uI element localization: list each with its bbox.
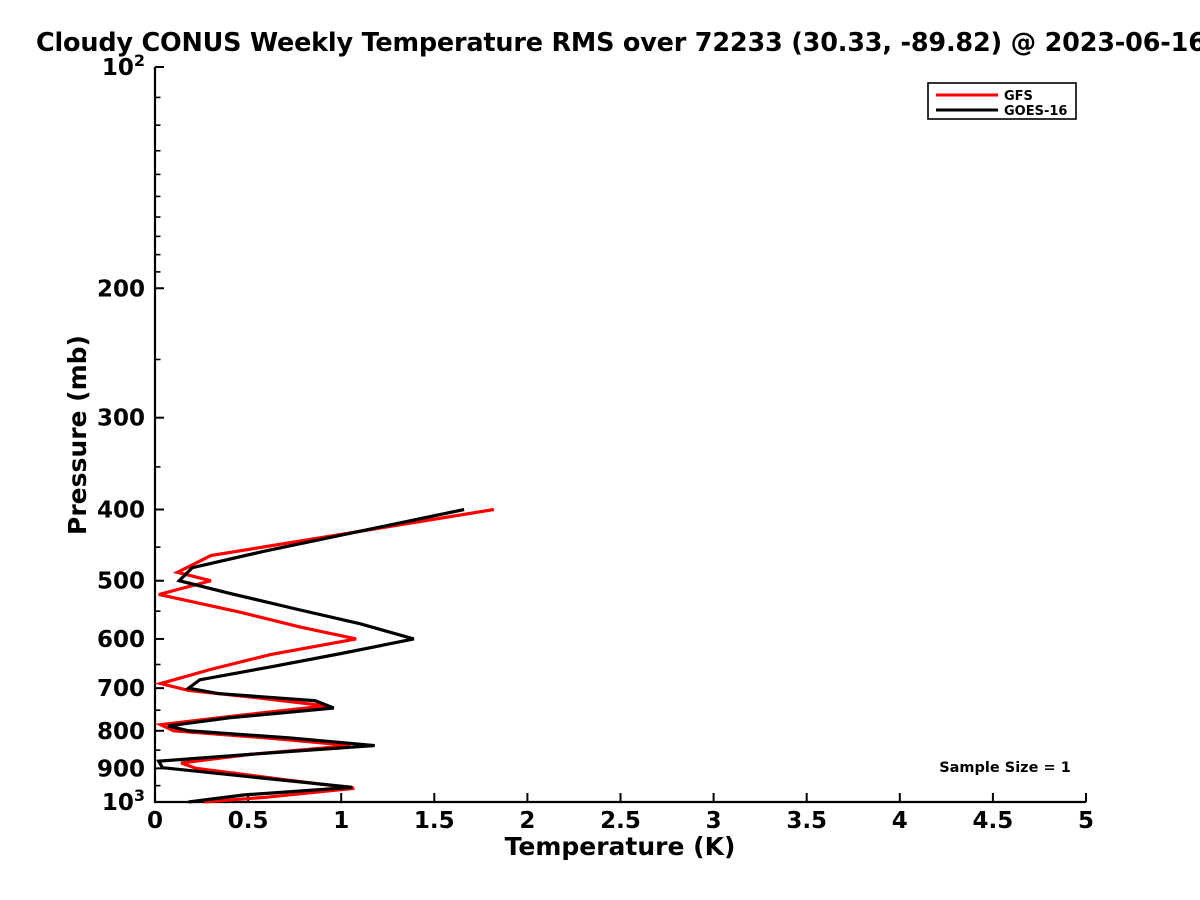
- y-tick-label-0: 102: [102, 51, 145, 81]
- x-tick-label-1: 0.5: [228, 808, 269, 834]
- x-tick-label-7: 3.5: [786, 808, 827, 834]
- x-tick-label-9: 4.5: [973, 808, 1014, 834]
- x-tick-label-2: 1: [333, 808, 349, 834]
- sample-size-annotation: Sample Size = 1: [939, 760, 1071, 776]
- x-tick-labels: 00.511.522.533.544.55: [147, 808, 1094, 834]
- x-tick-label-3: 1.5: [414, 808, 455, 834]
- x-tick-label-4: 2: [519, 808, 535, 834]
- x-tick-label-10: 5: [1078, 808, 1094, 834]
- y-tick-label-3: 400: [97, 498, 145, 524]
- y-tick-label-9: 103: [102, 786, 145, 816]
- y-tick-label-4: 500: [97, 569, 145, 595]
- x-tick-label-6: 3: [706, 808, 722, 834]
- y-tick-labels: 102200300400500600700800900103: [97, 51, 145, 816]
- plot-canvas: 00.511.522.533.544.55 102200300400500600…: [0, 0, 1200, 900]
- y-tick-label-6: 700: [97, 676, 145, 702]
- x-tick-label-5: 2.5: [600, 808, 641, 834]
- chart-figure: Cloudy CONUS Weekly Temperature RMS over…: [0, 0, 1200, 900]
- x-tick-label-8: 4: [892, 808, 908, 834]
- axis-spines: [155, 67, 1086, 802]
- axes: [155, 67, 1086, 802]
- y-tick-label-1: 200: [97, 276, 145, 302]
- y-tick-label-7: 800: [97, 719, 145, 745]
- legend-label-goes-16: GOES-16: [1004, 104, 1067, 119]
- legend[interactable]: GFSGOES-16: [928, 83, 1076, 119]
- x-axis-title: Temperature (K): [505, 832, 736, 861]
- series-line-goes-16: [159, 510, 464, 802]
- x-tick-label-0: 0: [147, 808, 163, 834]
- data-series: [159, 510, 494, 802]
- y-axis-title: Pressure (mb): [63, 335, 92, 535]
- y-tick-label-5: 600: [97, 627, 145, 653]
- y-tick-label-2: 300: [97, 406, 145, 432]
- tick-marks: [155, 67, 1086, 802]
- y-tick-label-8: 900: [97, 756, 145, 782]
- legend-label-gfs: GFS: [1004, 89, 1033, 104]
